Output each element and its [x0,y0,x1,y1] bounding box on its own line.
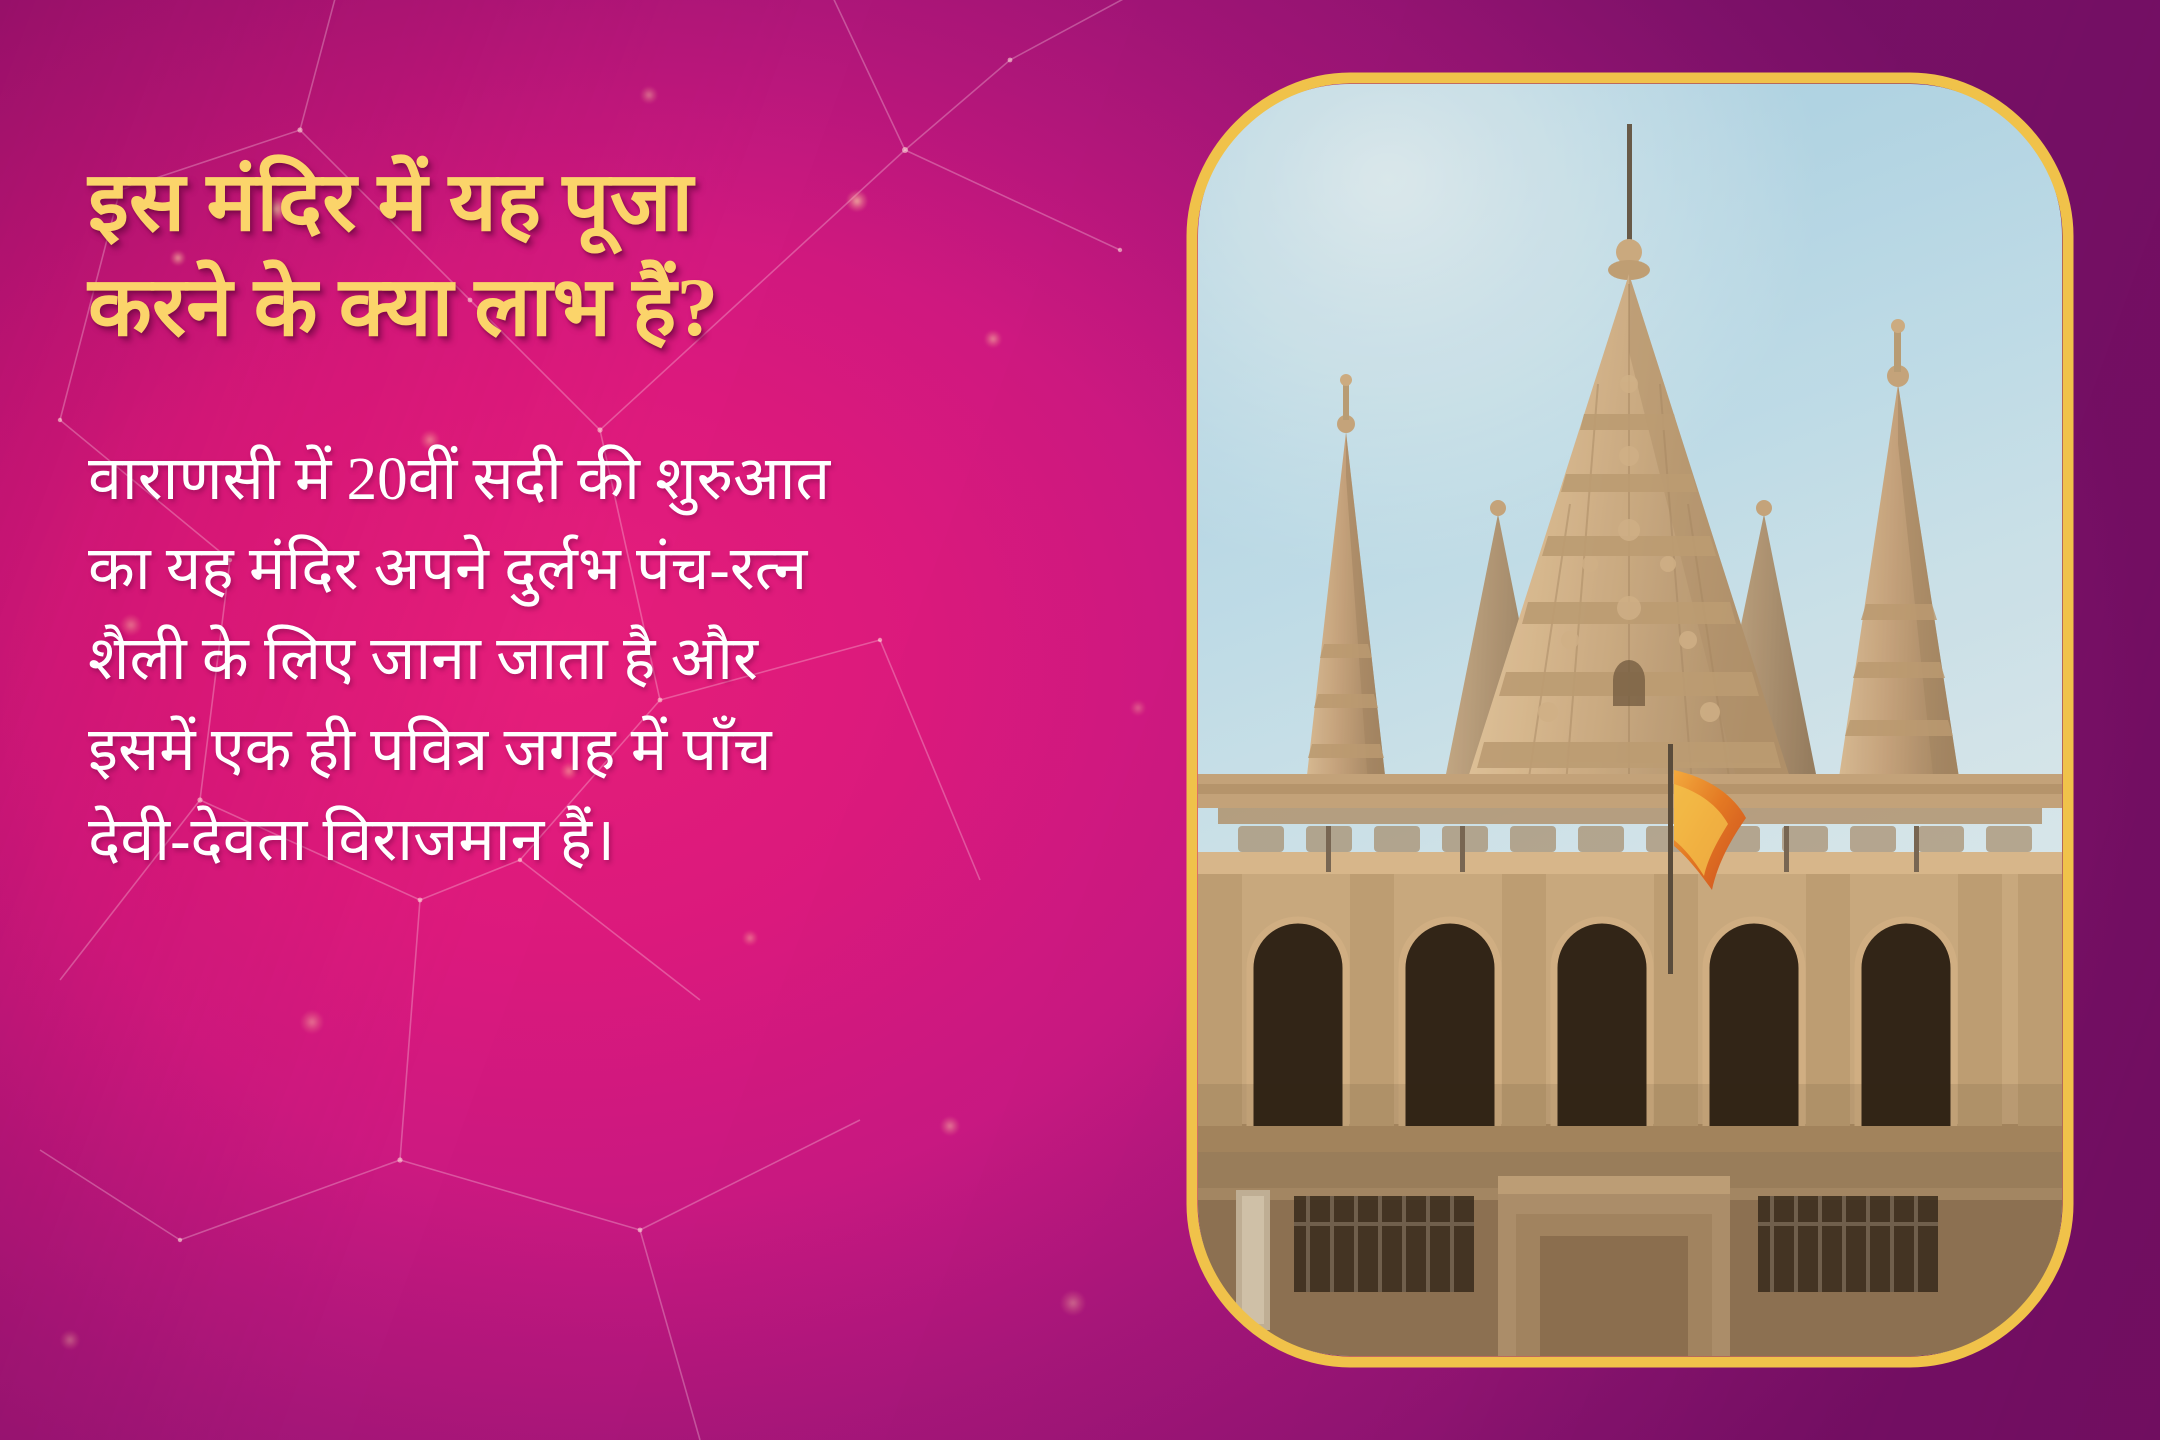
body-paragraph: वाराणसी में 20वीं सदी की शुरुआत का यह मं… [88,435,1018,886]
frame-border [1186,72,2074,1368]
photo-frame [1186,72,2074,1368]
poster-canvas: इस मंदिर में यह पूजा करने के क्या लाभ है… [0,0,2160,1440]
page-title: इस मंदिर में यह पूजा करने के क्या लाभ है… [88,150,1018,361]
text-column: इस मंदिर में यह पूजा करने के क्या लाभ है… [88,150,1018,886]
